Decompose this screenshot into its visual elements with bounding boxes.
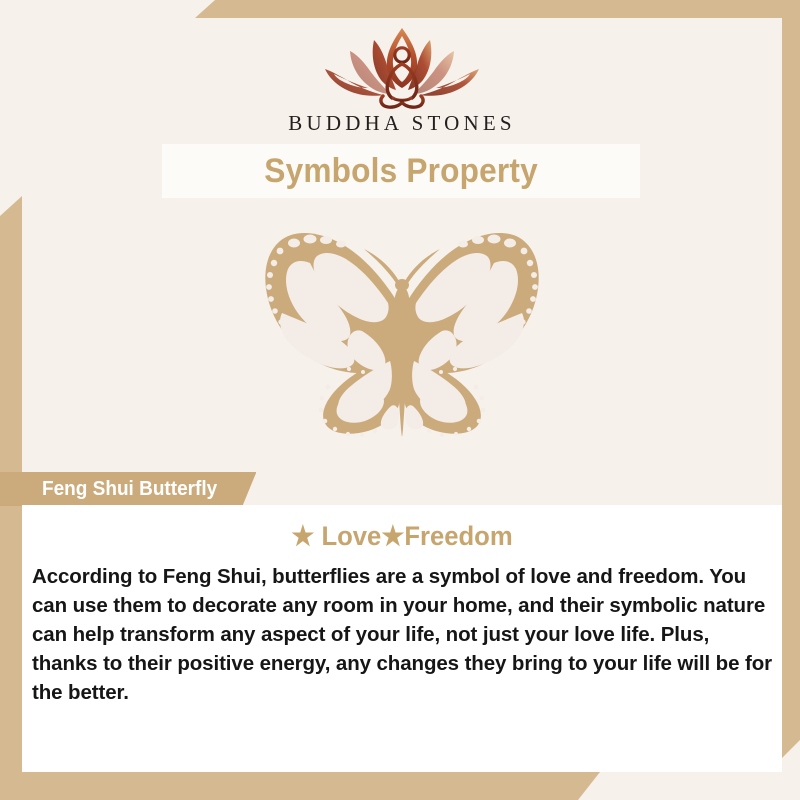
brand-logo: BUDDHA STONES [22,18,782,142]
lotus-meditation-icon [313,24,491,110]
badge-label: Feng Shui Butterfly [42,478,217,501]
decor-band-top [0,0,800,18]
butterfly-illustration [22,208,782,458]
decor-band-right [782,0,800,800]
page-title: Symbols Property [264,152,538,191]
tagline: ★ Love★Freedom [47,521,758,552]
decor-band-bottom [0,772,800,800]
status-badge: Feng Shui Butterfly [0,472,256,506]
butterfly-icon [222,217,582,449]
description-panel: ★ Love★Freedom According to Feng Shui, b… [22,505,782,772]
content-stage: BUDDHA STONES Symbols Property [22,18,782,772]
title-banner: Symbols Property [162,144,640,198]
brand-wordmark: BUDDHA STONES [288,111,516,136]
decor-band-left [0,0,22,800]
description-paragraph: According to Feng Shui, butterflies are … [28,562,776,707]
promo-card: BUDDHA STONES Symbols Property [0,0,800,800]
